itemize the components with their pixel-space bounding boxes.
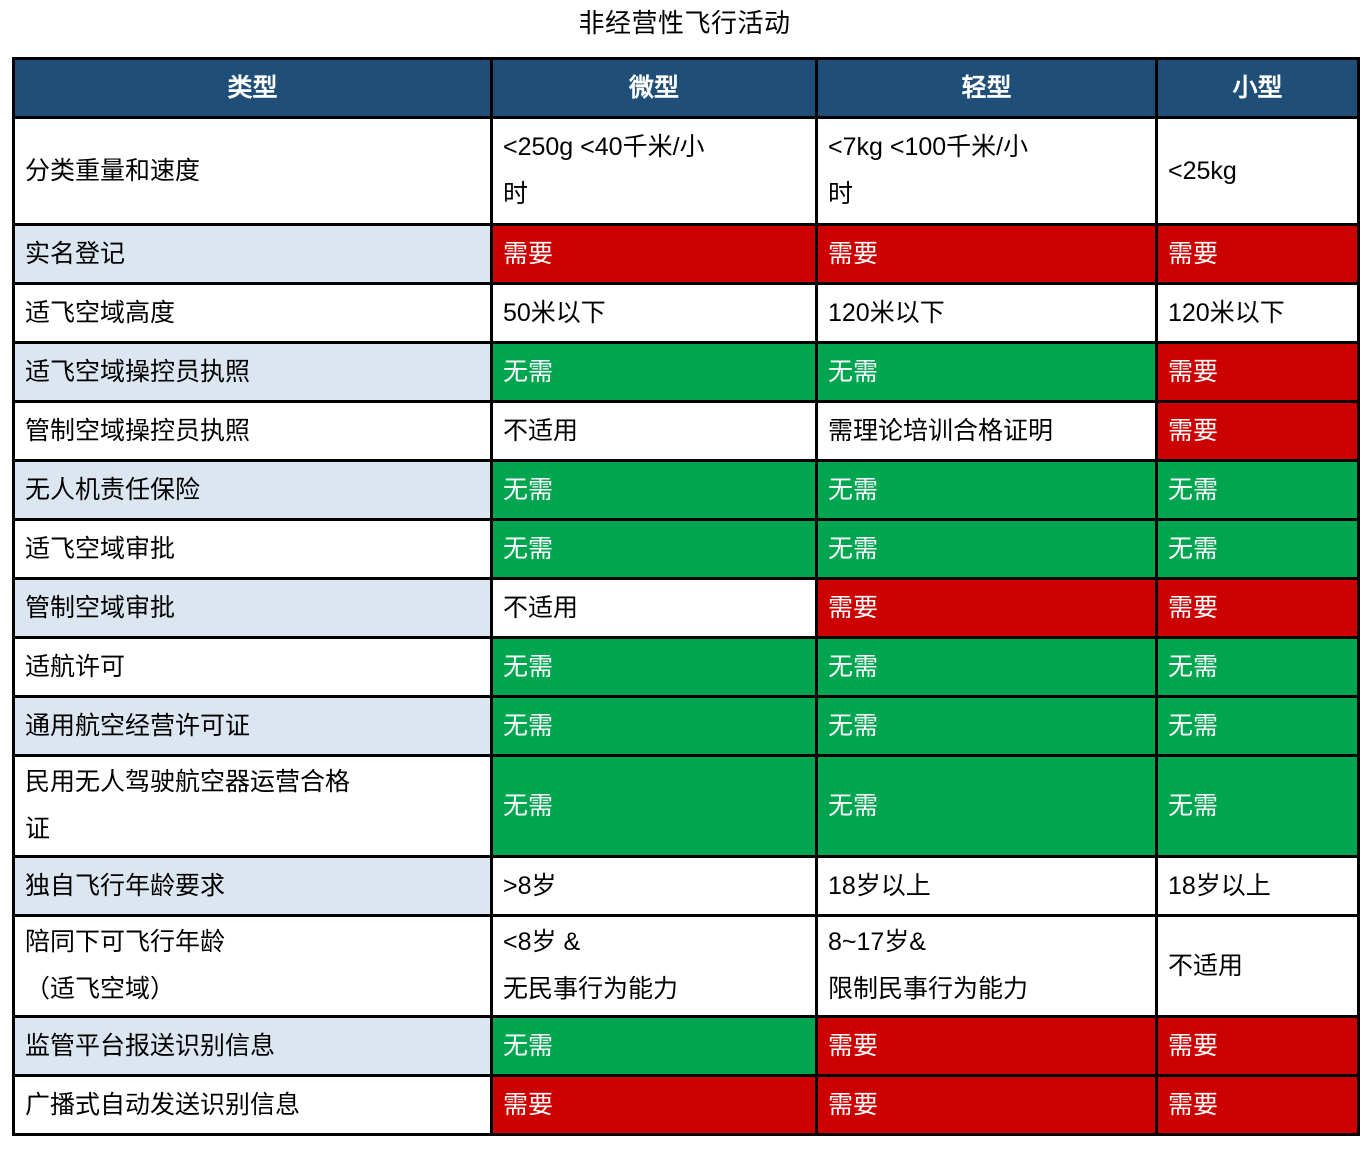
cell-small: 18岁以上 [1157, 857, 1359, 916]
cell-micro: 需要 [492, 225, 817, 284]
page-title: 非经营性飞行活动 [0, 0, 1369, 38]
cell-line: 无民事行为能力 [503, 969, 805, 1010]
cell-micro: >8岁 [492, 857, 817, 916]
cell-light: 需理论培训合格证明 [817, 402, 1157, 461]
table-row: 无人机责任保险 无需 无需 无需 [14, 461, 1359, 520]
cell-small: 无需 [1157, 638, 1359, 697]
table-container: 类型 微型 轻型 小型 分类重量和速度 <250g <40千米/小 时 <7kg… [12, 57, 1357, 1136]
row-label: 适航许可 [14, 638, 492, 697]
label-line: 民用无人驾驶航空器运营合格 [25, 762, 480, 803]
cell-micro: 无需 [492, 638, 817, 697]
cell-small: 无需 [1157, 756, 1359, 857]
cell-micro: 无需 [492, 1017, 817, 1076]
row-label: 广播式自动发送识别信息 [14, 1076, 492, 1135]
table-row: 适飞空域高度 50米以下 120米以下 120米以下 [14, 284, 1359, 343]
column-header-small: 小型 [1157, 59, 1359, 118]
table-row: 监管平台报送识别信息 无需 需要 需要 [14, 1017, 1359, 1076]
table-body: 分类重量和速度 <250g <40千米/小 时 <7kg <100千米/小 时 … [14, 118, 1359, 1135]
table-row: 实名登记 需要 需要 需要 [14, 225, 1359, 284]
cell-light: 120米以下 [817, 284, 1157, 343]
cell-light: 需要 [817, 225, 1157, 284]
label-line: 证 [25, 809, 480, 850]
cell-small: 不适用 [1157, 916, 1359, 1017]
row-label: 陪同下可飞行年龄 （适飞空域） [14, 916, 492, 1017]
table-row: 独自飞行年龄要求 >8岁 18岁以上 18岁以上 [14, 857, 1359, 916]
table-row: 民用无人驾驶航空器运营合格 证 无需 无需 无需 [14, 756, 1359, 857]
row-label: 管制空域操控员执照 [14, 402, 492, 461]
row-label: 适飞空域高度 [14, 284, 492, 343]
cell-line: <250g <40千米/小 [503, 127, 805, 168]
cell-light: 18岁以上 [817, 857, 1157, 916]
table-header: 类型 微型 轻型 小型 [14, 59, 1359, 118]
row-label: 适飞空域操控员执照 [14, 343, 492, 402]
cell-light: 需要 [817, 1017, 1157, 1076]
cell-small: 需要 [1157, 1076, 1359, 1135]
cell-line: <8岁 & [503, 922, 805, 963]
table-row: 分类重量和速度 <250g <40千米/小 时 <7kg <100千米/小 时 … [14, 118, 1359, 225]
cell-small: 无需 [1157, 697, 1359, 756]
cell-small: <25kg [1157, 118, 1359, 225]
table-row: 管制空域审批 不适用 需要 需要 [14, 579, 1359, 638]
cell-line: <7kg <100千米/小 [828, 127, 1145, 168]
table-row: 适航许可 无需 无需 无需 [14, 638, 1359, 697]
column-header-micro: 微型 [492, 59, 817, 118]
table-row: 适飞空域审批 无需 无需 无需 [14, 520, 1359, 579]
cell-small: 无需 [1157, 461, 1359, 520]
cell-light: 无需 [817, 756, 1157, 857]
row-label: 民用无人驾驶航空器运营合格 证 [14, 756, 492, 857]
cell-small: 需要 [1157, 343, 1359, 402]
cell-light: 无需 [817, 461, 1157, 520]
cell-line: 限制民事行为能力 [828, 969, 1145, 1010]
column-header-type: 类型 [14, 59, 492, 118]
cell-micro: 50米以下 [492, 284, 817, 343]
row-label: 管制空域审批 [14, 579, 492, 638]
cell-light: 8~17岁& 限制民事行为能力 [817, 916, 1157, 1017]
label-line: 陪同下可飞行年龄 [25, 922, 480, 963]
cell-micro: 无需 [492, 520, 817, 579]
cell-micro: <8岁 & 无民事行为能力 [492, 916, 817, 1017]
row-label: 适飞空域审批 [14, 520, 492, 579]
cell-light: <7kg <100千米/小 时 [817, 118, 1157, 225]
table-row: 陪同下可飞行年龄 （适飞空域） <8岁 & 无民事行为能力 8~17岁& 限制民… [14, 916, 1359, 1017]
label-line: （适飞空域） [25, 969, 480, 1010]
cell-line: 时 [828, 174, 1145, 215]
cell-micro: 无需 [492, 756, 817, 857]
cell-small: 需要 [1157, 402, 1359, 461]
row-label: 通用航空经营许可证 [14, 697, 492, 756]
cell-line: 8~17岁& [828, 922, 1145, 963]
cell-small: 需要 [1157, 579, 1359, 638]
table-row: 广播式自动发送识别信息 需要 需要 需要 [14, 1076, 1359, 1135]
row-label: 监管平台报送识别信息 [14, 1017, 492, 1076]
drone-regulation-table: 类型 微型 轻型 小型 分类重量和速度 <250g <40千米/小 时 <7kg… [12, 57, 1360, 1136]
table-row: 通用航空经营许可证 无需 无需 无需 [14, 697, 1359, 756]
cell-micro: 不适用 [492, 402, 817, 461]
cell-light: 需要 [817, 1076, 1157, 1135]
cell-light: 需要 [817, 579, 1157, 638]
row-label: 分类重量和速度 [14, 118, 492, 225]
cell-small: 需要 [1157, 1017, 1359, 1076]
table-row: 管制空域操控员执照 不适用 需理论培训合格证明 需要 [14, 402, 1359, 461]
cell-small: 需要 [1157, 225, 1359, 284]
row-label: 独自飞行年龄要求 [14, 857, 492, 916]
cell-light: 无需 [817, 520, 1157, 579]
cell-micro: 无需 [492, 697, 817, 756]
cell-small: 120米以下 [1157, 284, 1359, 343]
table-row: 适飞空域操控员执照 无需 无需 需要 [14, 343, 1359, 402]
cell-micro: 需要 [492, 1076, 817, 1135]
cell-micro: 不适用 [492, 579, 817, 638]
cell-small: 无需 [1157, 520, 1359, 579]
cell-line: 时 [503, 174, 805, 215]
row-label: 实名登记 [14, 225, 492, 284]
cell-light: 无需 [817, 697, 1157, 756]
cell-light: 无需 [817, 343, 1157, 402]
cell-micro: <250g <40千米/小 时 [492, 118, 817, 225]
header-row: 类型 微型 轻型 小型 [14, 59, 1359, 118]
column-header-light: 轻型 [817, 59, 1157, 118]
page-root: 非经营性飞行活动 类型 微型 轻型 小型 分类重量和速度 <250g [0, 0, 1369, 1158]
row-label: 无人机责任保险 [14, 461, 492, 520]
cell-micro: 无需 [492, 461, 817, 520]
cell-micro: 无需 [492, 343, 817, 402]
cell-light: 无需 [817, 638, 1157, 697]
